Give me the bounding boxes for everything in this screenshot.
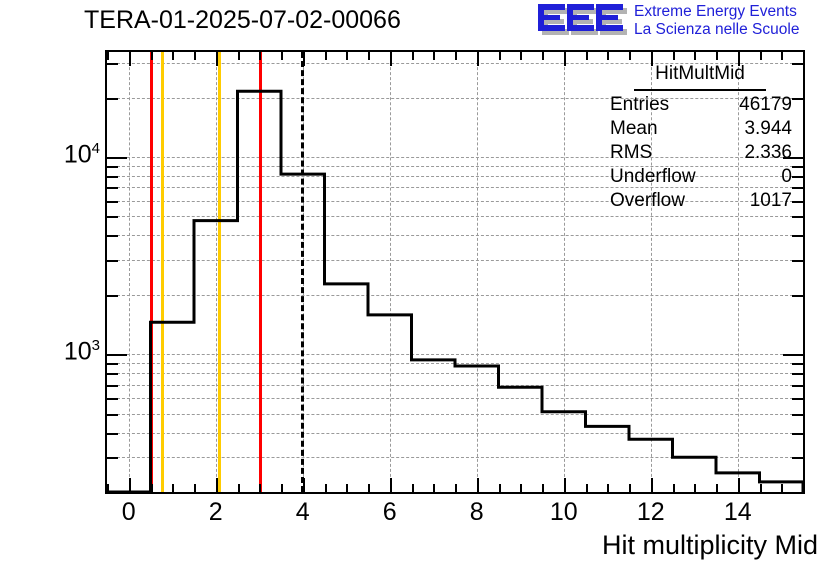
y-tick-minor [107, 373, 118, 375]
x-tick-minor [281, 484, 283, 492]
stats-row-value: 0 [781, 165, 792, 189]
x-tick-minor-top [694, 52, 696, 60]
y-tick-minor-right [792, 457, 803, 459]
eee-logo-text: Extreme Energy Events La Scienza nelle S… [634, 3, 799, 39]
y-tick-minor [107, 166, 118, 168]
x-tick-major-top [129, 52, 131, 66]
x-tick-minor-top [259, 52, 261, 60]
x-tick-minor-top [586, 52, 588, 60]
x-tick-minor [107, 484, 109, 492]
y-tick-minor [107, 295, 118, 297]
x-tick-minor-top [238, 52, 240, 60]
x-tick-minor-top [107, 52, 109, 60]
y-tick-minor [107, 363, 118, 365]
stats-box-rows: Entries46179Mean3.944RMS2.336Underflow0O… [604, 93, 796, 213]
stats-row: Underflow0 [604, 165, 796, 189]
y-tick-minor [107, 433, 118, 435]
stats-row: Overflow1017 [604, 189, 796, 213]
x-tick-minor-top [520, 52, 522, 60]
x-tick-minor [673, 484, 675, 492]
x-tick-major-top [564, 52, 566, 66]
x-tick-minor [194, 484, 196, 492]
x-tick-minor-top [194, 52, 196, 60]
x-tick-minor-top [346, 52, 348, 60]
y-tick-minor-right [792, 295, 803, 297]
y-tick-exponent: 4 [92, 140, 100, 157]
x-tick-minor [803, 484, 805, 492]
y-tick-minor-right [792, 398, 803, 400]
y-tick-minor [107, 385, 118, 387]
root-canvas: TERA-01-2025-07-02-00066 [0, 0, 836, 572]
y-tick-minor [107, 414, 118, 416]
y-tick-minor [107, 260, 118, 262]
x-tick-minor [542, 484, 544, 492]
x-tick-major [738, 478, 740, 492]
y-tick-major [107, 157, 127, 159]
x-tick-minor [368, 484, 370, 492]
stats-row-value: 1017 [750, 189, 792, 213]
eee-logo: Extreme Energy Events La Scienza nelle S… [536, 2, 836, 44]
y-tick-minor-right [792, 492, 803, 494]
x-tick-minor-top [781, 52, 783, 60]
eee-logo-icon [536, 3, 628, 39]
y-tick-minor [107, 201, 118, 203]
x-tick-minor-top [325, 52, 327, 60]
x-tick-minor [325, 484, 327, 492]
y-tick-minor [107, 216, 118, 218]
x-tick-label: 4 [273, 498, 333, 527]
x-tick-minor [760, 484, 762, 492]
y-tick-minor-right [792, 216, 803, 218]
x-tick-label: 10 [534, 498, 594, 527]
eee-logo-line1: Extreme Energy Events [634, 3, 799, 21]
stats-box-title: HitMultMid [604, 63, 796, 87]
x-tick-minor [455, 484, 457, 492]
y-tick-minor [107, 457, 118, 459]
x-tick-minor-top [760, 52, 762, 60]
x-tick-major [564, 478, 566, 492]
x-tick-major-top [216, 52, 218, 66]
stats-row-label: Underflow [610, 165, 696, 189]
x-tick-minor-top [151, 52, 153, 60]
x-tick-minor-top [629, 52, 631, 60]
x-axis-title: Hit multiplicity Mid [602, 530, 818, 561]
x-tick-minor [346, 484, 348, 492]
stats-row-label: Overflow [610, 189, 685, 213]
y-tick-minor [107, 235, 118, 237]
y-tick-minor [107, 187, 118, 189]
y-tick-major [107, 354, 127, 356]
stats-row-label: Entries [610, 93, 669, 117]
x-tick-minor-top [673, 52, 675, 60]
x-tick-minor [238, 484, 240, 492]
x-tick-major [303, 478, 305, 492]
x-tick-label: 2 [186, 498, 246, 527]
y-tick-minor [107, 63, 118, 65]
x-tick-minor-top [172, 52, 174, 60]
x-tick-minor [781, 484, 783, 492]
x-tick-label: 14 [708, 498, 768, 527]
x-tick-minor [151, 484, 153, 492]
y-tick-label: 103 [20, 337, 100, 366]
x-tick-major [390, 478, 392, 492]
x-tick-minor-top [368, 52, 370, 60]
x-tick-major [651, 478, 653, 492]
y-tick-mantissa: 10 [64, 140, 92, 168]
x-tick-minor-top [433, 52, 435, 60]
y-tick-minor-right [792, 260, 803, 262]
x-tick-label: 0 [99, 498, 159, 527]
y-tick-minor [107, 492, 118, 494]
x-tick-minor-top [607, 52, 609, 60]
y-tick-label: 104 [20, 140, 100, 169]
y-tick-minor-right [792, 363, 803, 365]
x-tick-minor-top [281, 52, 283, 60]
x-tick-minor [412, 484, 414, 492]
y-tick-minor-right [792, 385, 803, 387]
x-tick-minor-top [803, 52, 805, 60]
y-tick-minor [107, 176, 118, 178]
stats-box: HitMultMid Entries46179Mean3.944RMS2.336… [604, 63, 796, 198]
x-tick-minor-top [499, 52, 501, 60]
x-tick-minor [172, 484, 174, 492]
y-tick-minor [107, 98, 118, 100]
x-tick-major [129, 478, 131, 492]
stats-row-label: Mean [610, 117, 658, 141]
y-tick-mantissa: 10 [64, 337, 92, 365]
stats-row-value: 3.944 [744, 117, 792, 141]
x-tick-minor-top [716, 52, 718, 60]
x-tick-minor [259, 484, 261, 492]
x-tick-label: 6 [360, 498, 420, 527]
stats-row: Mean3.944 [604, 117, 796, 141]
y-tick-minor-right [792, 373, 803, 375]
y-tick-minor-right [792, 414, 803, 416]
y-tick-minor-right [792, 433, 803, 435]
x-tick-minor [586, 484, 588, 492]
x-tick-major-top [477, 52, 479, 66]
x-tick-minor [433, 484, 435, 492]
y-tick-minor-right [792, 235, 803, 237]
x-tick-major [216, 478, 218, 492]
stats-row-value: 2.336 [744, 141, 792, 165]
x-tick-major-top [303, 52, 305, 66]
stats-row: RMS2.336 [604, 141, 796, 165]
stats-row-value: 46179 [739, 93, 792, 117]
x-tick-minor [629, 484, 631, 492]
x-tick-minor [607, 484, 609, 492]
stats-row-label: RMS [610, 141, 652, 165]
x-tick-label: 12 [621, 498, 681, 527]
stats-row: Entries46179 [604, 93, 796, 117]
x-tick-major [477, 478, 479, 492]
page-title: TERA-01-2025-07-02-00066 [84, 6, 401, 35]
x-tick-minor [499, 484, 501, 492]
x-tick-minor-top [542, 52, 544, 60]
y-tick-major-right [783, 354, 803, 356]
x-tick-major-top [390, 52, 392, 66]
x-tick-minor [694, 484, 696, 492]
y-tick-minor [107, 398, 118, 400]
x-tick-minor-top [455, 52, 457, 60]
x-tick-minor [716, 484, 718, 492]
y-tick-exponent: 3 [92, 337, 100, 354]
x-tick-label: 8 [447, 498, 507, 527]
x-tick-minor-top [412, 52, 414, 60]
stats-box-rule [634, 89, 766, 91]
eee-logo-line2: La Scienza nelle Scuole [634, 21, 799, 39]
x-tick-minor [520, 484, 522, 492]
